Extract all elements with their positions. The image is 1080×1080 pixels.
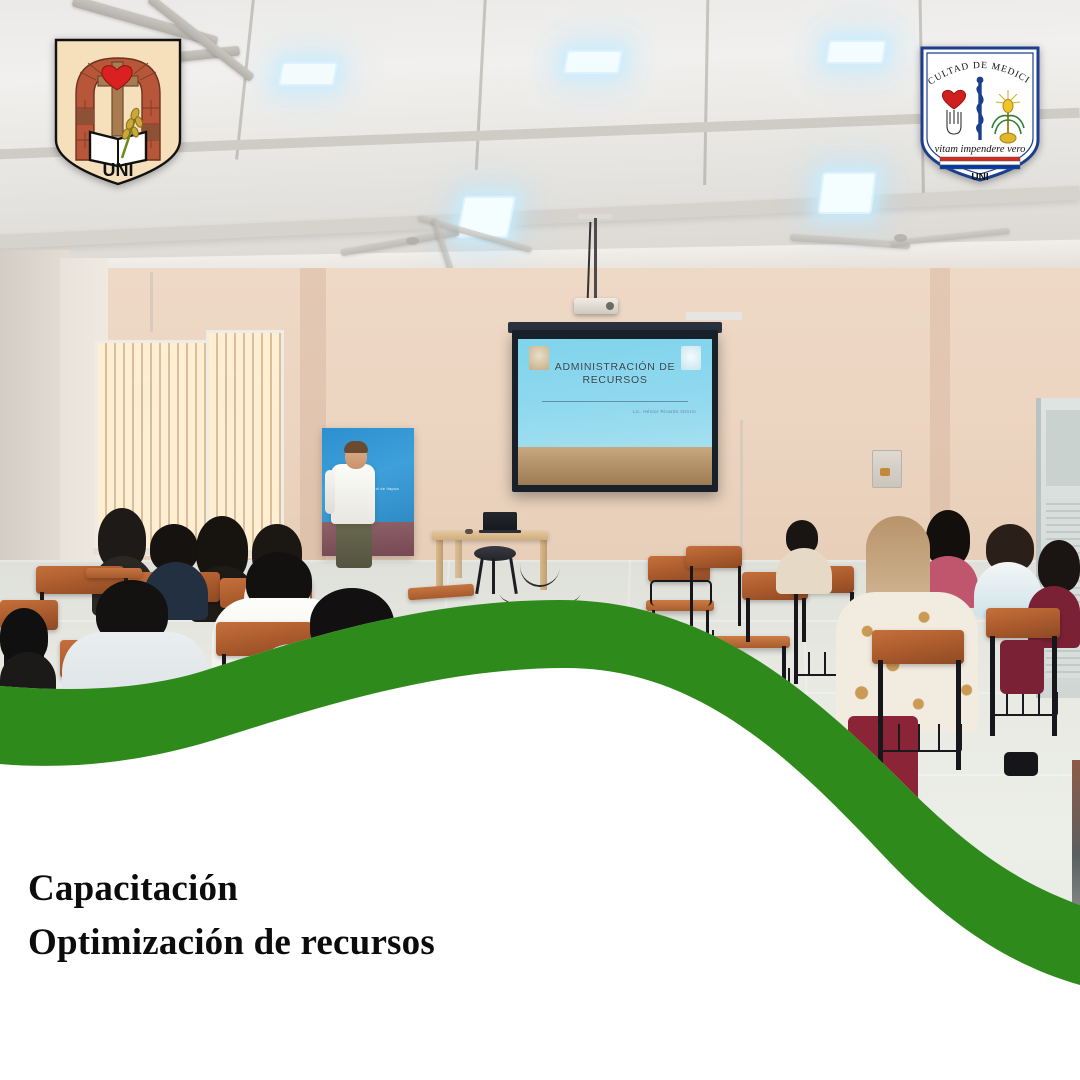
- chair-leg: [396, 690, 401, 760]
- projector-pole: [594, 218, 597, 300]
- wall-conduit: [740, 420, 743, 550]
- stool-leg: [492, 558, 495, 594]
- poster-canvas: ADMINISTRACIÓN DE RECURSOS Lic. Héctor R…: [0, 0, 1080, 1080]
- computer-mouse: [465, 529, 473, 534]
- caption-block: Capacitación Optimización de recursos: [28, 862, 435, 970]
- projected-slide: ADMINISTRACIÓN DE RECURSOS Lic. Héctor R…: [518, 339, 712, 453]
- paraguay-flag-ribbon-icon: [940, 157, 1020, 169]
- bottle-cap: [824, 758, 833, 770]
- laptop: [483, 512, 517, 532]
- slide-author: Lic. Héctor Ricardo Ozorio: [633, 409, 696, 414]
- chair-leg: [286, 690, 291, 760]
- shoe: [1004, 752, 1038, 776]
- presenter-hair: [344, 441, 368, 453]
- caption-line-1: Capacitación: [28, 862, 435, 916]
- uni-wordmark: UNI: [103, 160, 134, 180]
- slide-divider: [542, 401, 688, 402]
- table-leg: [455, 534, 462, 578]
- projector-lens: [606, 302, 614, 310]
- slide-title-line1: ADMINISTRACIÓN DE: [555, 361, 675, 373]
- table-leg: [436, 538, 443, 590]
- door-glass: [1046, 410, 1080, 486]
- photo-right-edge-strip: [1072, 760, 1080, 1080]
- laptop-base: [479, 530, 521, 533]
- medicina-shield-logo: FACULTAD DE MEDICINA: [916, 44, 1044, 184]
- power-cable: [540, 592, 590, 612]
- pink-water-bottle: [818, 768, 840, 816]
- led-panel-light: [563, 50, 623, 74]
- slide-photo-strip: [518, 447, 712, 485]
- chair-tablet-arm: [86, 568, 142, 578]
- electrical-panel: [872, 450, 902, 488]
- led-panel-light: [825, 40, 887, 64]
- motto-text: vitam impendere vero: [935, 144, 1026, 155]
- caption-line-2: Optimización de recursos: [28, 916, 435, 970]
- chair-tablet-arm: [276, 674, 406, 695]
- arch-stone: [77, 109, 94, 124]
- wall-trim: [686, 312, 742, 320]
- uni-wordmark: UNI: [971, 172, 988, 183]
- presenter-trousers: [336, 520, 372, 568]
- uni-shield-logo: UNI: [50, 36, 186, 188]
- slide-title-line2: RECURSOS: [582, 374, 647, 386]
- floor-reflection-text: ADMINISTRACIÓN DE RECURSOS: [546, 780, 706, 802]
- audience-member-legs: [1000, 640, 1044, 694]
- presenter-shirt: [331, 464, 375, 524]
- wall-conduit: [150, 272, 153, 332]
- slide-title: ADMINISTRACIÓN DE RECURSOS: [518, 361, 712, 387]
- presenter-arm: [325, 470, 335, 514]
